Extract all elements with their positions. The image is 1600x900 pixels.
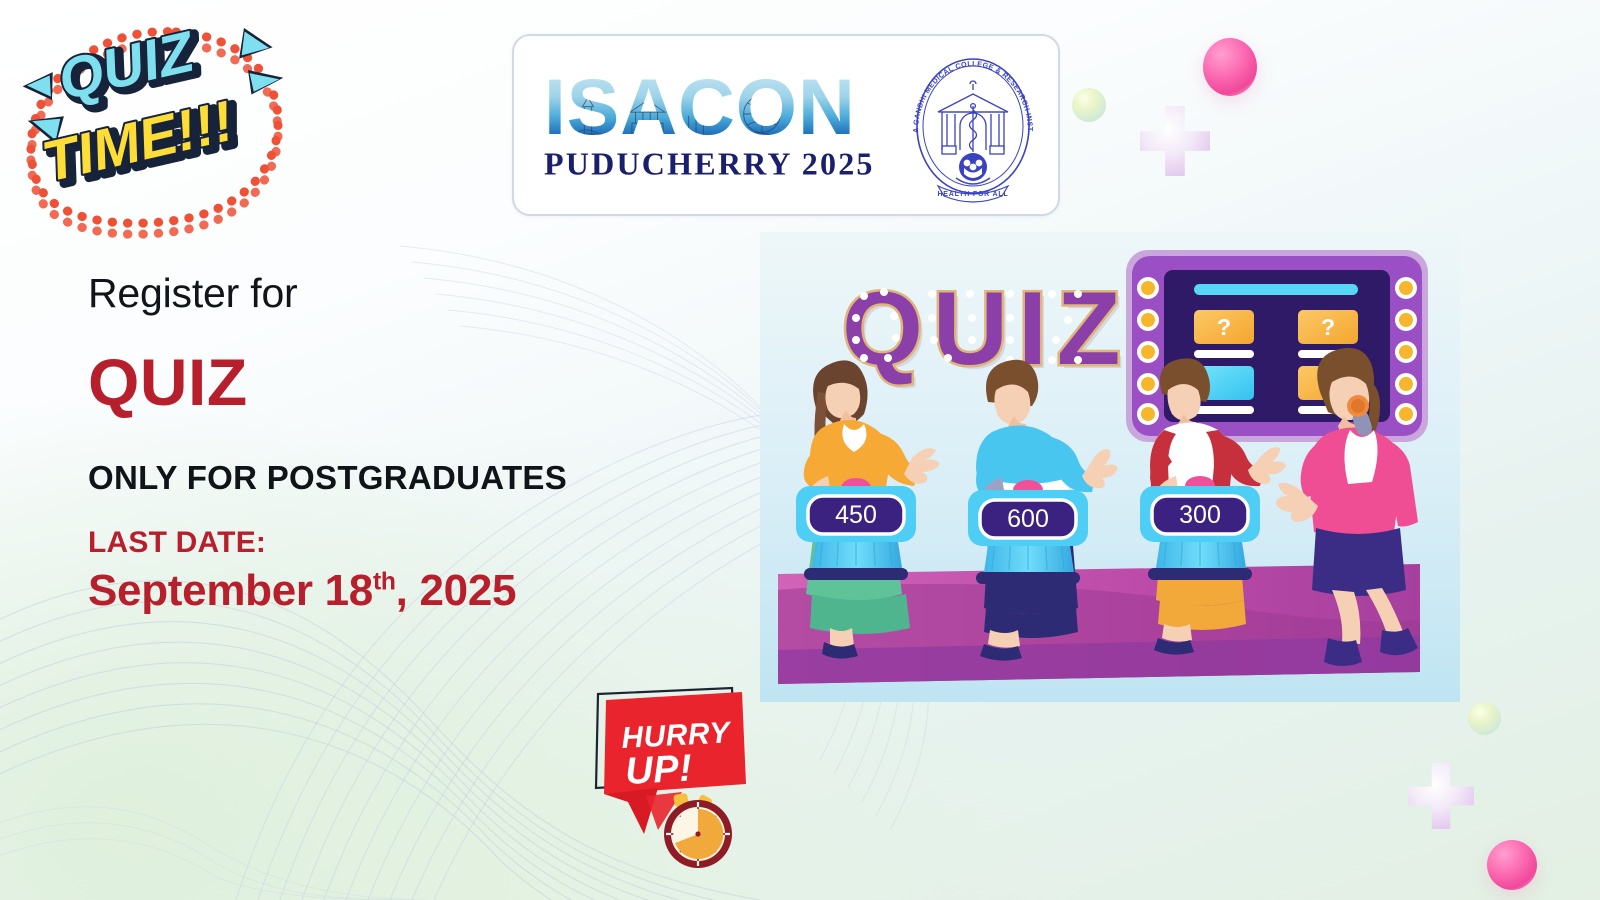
- register-for-label: Register for: [88, 272, 708, 315]
- podium-3: 300: [1140, 476, 1260, 580]
- isacon-subtitle: PUDUCHERRY 2025: [544, 145, 875, 181]
- isacon-wordmark: ISACON ISACON PUDUCHERRY 2025: [514, 66, 898, 184]
- decor-blob-cross-lavender-bottom: [1408, 763, 1474, 829]
- quiz-time-badge: QUIZ QUIZ TIME!!! TIME!!!: [8, 14, 308, 244]
- decor-blob-sphere-lime-bottom: [1468, 702, 1501, 735]
- svg-text:?: ?: [1217, 314, 1231, 340]
- isacon-logo-card: ISACON ISACON PUDUCHERRY 2025: [512, 34, 1060, 216]
- hurry-up-badge: HURRY UP!: [586, 684, 766, 874]
- last-date-value: September 18th, 2025: [88, 568, 708, 614]
- date-month-day: September 18: [88, 566, 373, 615]
- date-ordinal-suffix: th: [373, 568, 396, 595]
- decor-blob-cross-lavender-top: [1140, 106, 1210, 176]
- score-value-3: 300: [1179, 501, 1221, 529]
- eligibility-note: ONLY FOR POSTGRADUATES: [88, 461, 708, 494]
- registration-text-block: Register for QUIZ ONLY FOR POSTGRADUATES…: [88, 272, 708, 614]
- quiz-show-illustration: QUIZ QUIZ: [760, 232, 1460, 702]
- hurry-line-2: UP!: [624, 748, 693, 793]
- decor-blob-sphere-pink-bottom: [1487, 840, 1537, 890]
- svg-text:?: ?: [1321, 314, 1335, 340]
- quiz-heading: QUIZ: [88, 349, 708, 415]
- hurry-ribbon-tail: [604, 788, 658, 834]
- decor-blob-sphere-pink-top: [1203, 38, 1257, 96]
- score-value-2: 600: [1007, 505, 1049, 533]
- score-value-1: 450: [835, 501, 877, 529]
- poster-canvas: QUIZ QUIZ TIME!!! TIME!!!: [0, 0, 1600, 900]
- marquee-quiz-sign: QUIZ QUIZ: [842, 271, 1134, 391]
- answer-card-1: ?: [1194, 310, 1254, 358]
- podium-2: 600: [968, 480, 1088, 584]
- date-year: , 2025: [396, 566, 517, 615]
- last-date-label: LAST DATE:: [88, 528, 708, 558]
- podium-1: 450: [796, 478, 916, 580]
- decor-blob-sphere-lime-top: [1072, 88, 1106, 122]
- seal-banner-text: HEALTH FOR ALL: [937, 191, 1008, 198]
- board-question-bar: [1194, 284, 1358, 295]
- institution-seal: INDIRA GANDHI MEDICAL COLLEGE & RESEARCH…: [898, 46, 1048, 204]
- quiz-answer-board: ? ? ?: [1126, 250, 1428, 442]
- isacon-letters: ISACON: [544, 66, 856, 151]
